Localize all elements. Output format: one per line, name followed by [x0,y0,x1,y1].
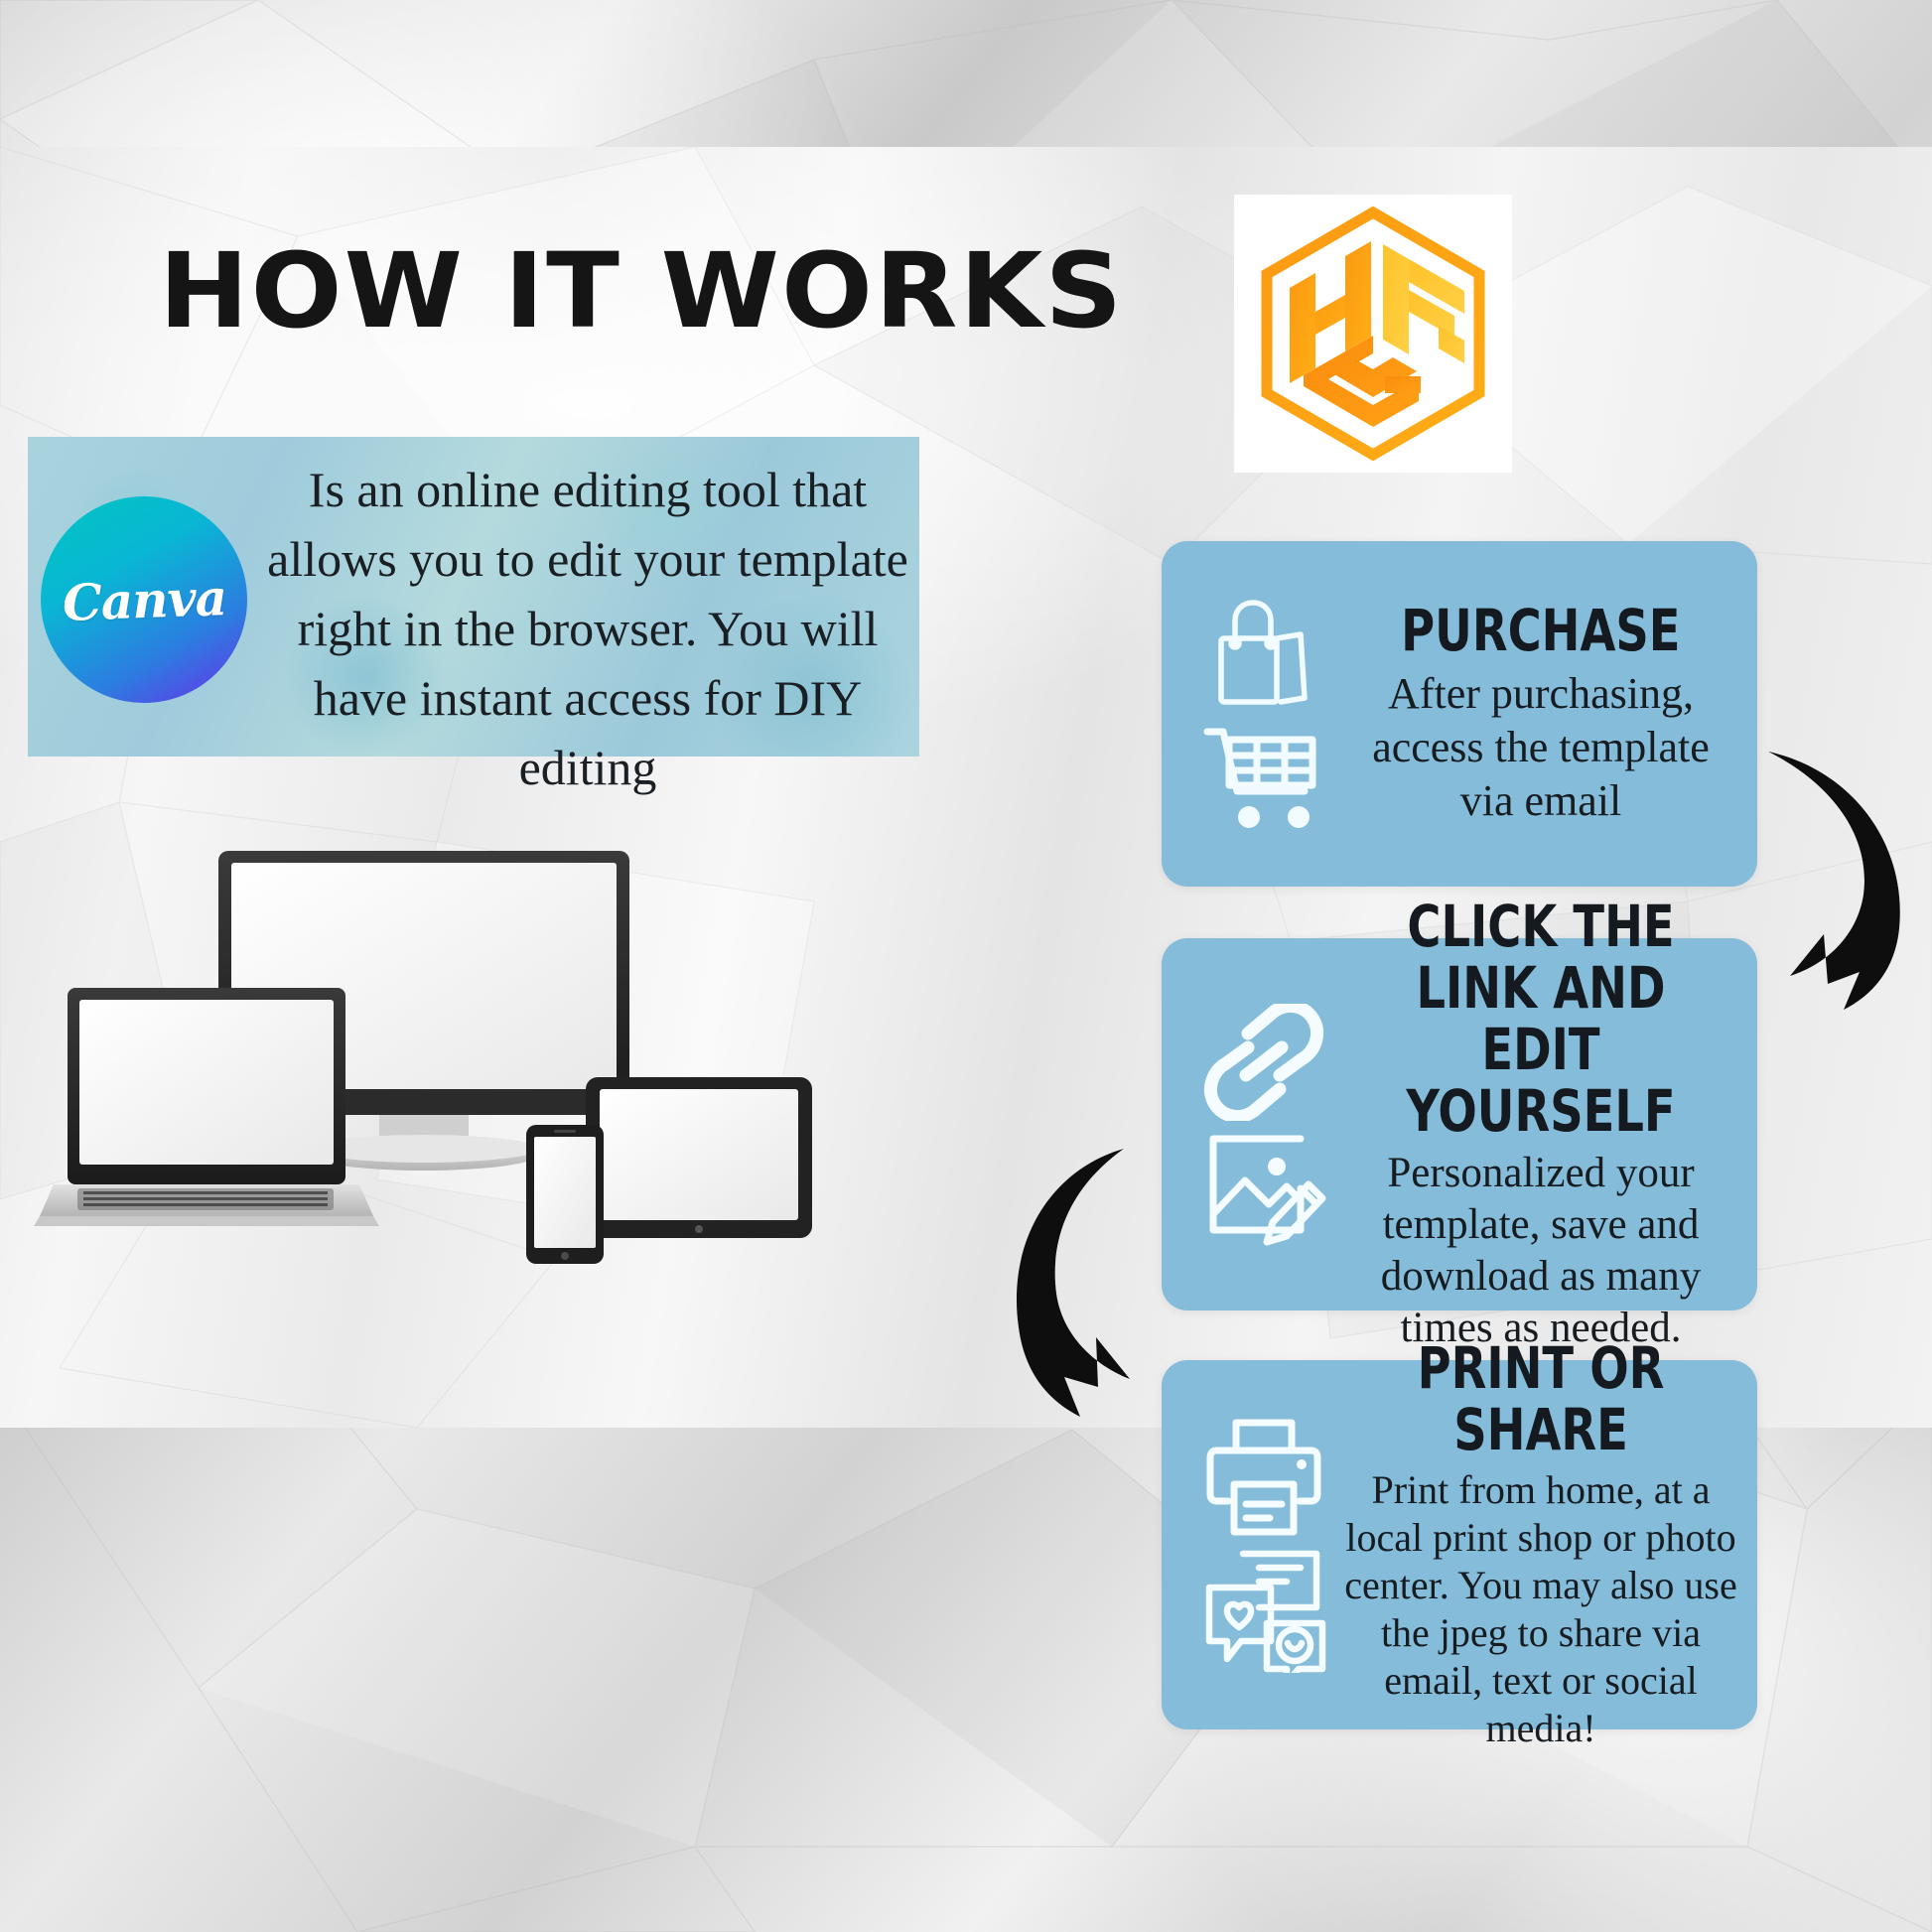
card-title: PRINT OR SHARE [1380,1337,1701,1460]
smartphone [526,1125,604,1264]
infographic-canvas: HOW IT WORKS [0,0,1932,1932]
shopping-cart-icon [1201,722,1328,833]
image-edit-icon [1201,1127,1328,1246]
canva-description: Is an online editing tool that allows yo… [266,455,909,802]
hrg-logo [1234,195,1512,473]
canva-wordmark: Canva [62,568,227,632]
card-title: CLICK THE LINK AND EDIT YOURSELF [1380,896,1701,1142]
printer-icon [1204,1417,1325,1540]
card-description: After purchasing, access the template vi… [1340,667,1741,828]
step-card-print-share[interactable]: PRINT OR SHARE Print from home, at a loc… [1162,1360,1757,1729]
share-chat-icon [1201,1546,1328,1673]
canva-logo: Canva [41,496,247,703]
link-icon [1202,1004,1327,1121]
card-body: CLICK THE LINK AND EDIT YOURSELF Persona… [1340,938,1741,1311]
page-title: HOW IT WORKS [159,236,975,355]
hrg-cube-icon [1234,195,1512,473]
step-card-edit[interactable]: CLICK THE LINK AND EDIT YOURSELF Persona… [1162,938,1757,1311]
card-title: PURCHASE [1401,600,1680,661]
device-mockup [30,839,844,1276]
shopping-bag-icon [1209,595,1320,716]
arrow-purchase-to-edit [1732,730,1921,1018]
card-body: PRINT OR SHARE Print from home, at a loc… [1340,1360,1741,1729]
step-card-purchase[interactable]: PURCHASE After purchasing, access the te… [1162,541,1757,887]
card-icons [1181,541,1348,887]
card-description: Print from home, at a local print shop o… [1340,1466,1741,1752]
card-body: PURCHASE After purchasing, access the te… [1340,541,1741,887]
card-icons [1181,1360,1348,1729]
card-icons [1181,938,1348,1311]
arrow-edit-to-print [1005,1137,1183,1425]
laptop [34,988,379,1226]
tablet [586,1077,812,1238]
card-description: Personalized your template, save and dow… [1340,1148,1741,1354]
